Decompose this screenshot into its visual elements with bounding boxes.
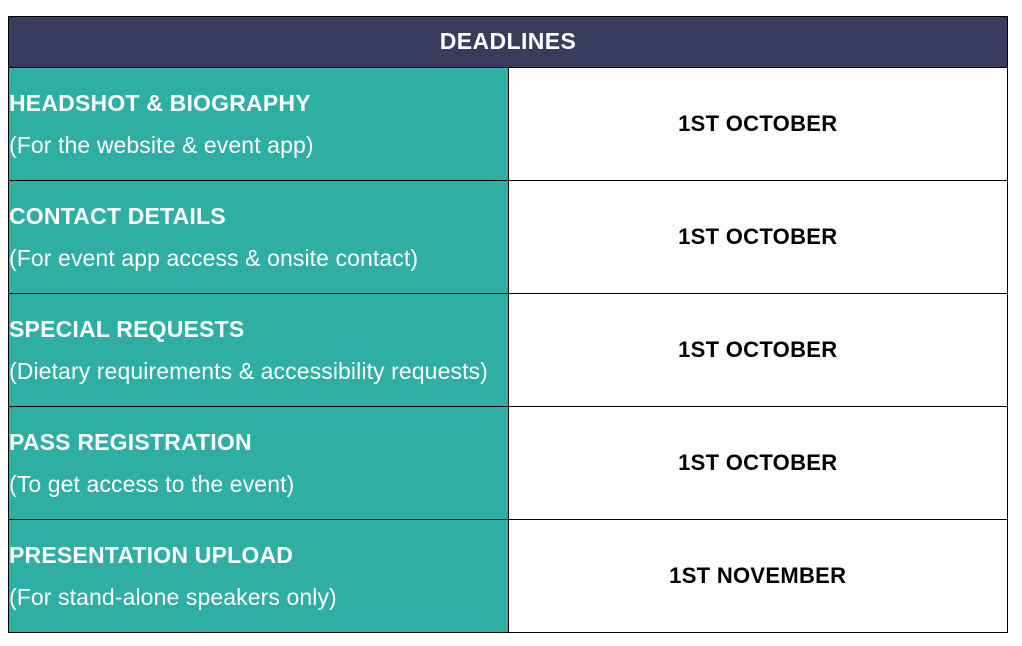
table-row: CONTACT DETAILS (For event app access & … <box>9 181 1008 294</box>
header-cell-deadlines: DEADLINES <box>9 17 1008 68</box>
deadlines-table: DEADLINES HEADSHOT & BIOGRAPHY (For the … <box>8 16 1008 633</box>
date-cell-special-requests: 1ST OCTOBER <box>508 294 1008 407</box>
table-row: HEADSHOT & BIOGRAPHY (For the website & … <box>9 68 1008 181</box>
deadline-date: 1ST OCTOBER <box>678 450 837 475</box>
deadline-date: 1ST NOVEMBER <box>669 563 846 588</box>
table-body: HEADSHOT & BIOGRAPHY (For the website & … <box>9 68 1008 633</box>
task-subtitle: (For the website & event app) <box>9 132 508 158</box>
task-subtitle: (For stand-alone speakers only) <box>9 584 508 610</box>
task-subtitle: (To get access to the event) <box>9 471 508 497</box>
table-header: DEADLINES <box>9 17 1008 68</box>
task-cell-presentation-upload: PRESENTATION UPLOAD (For stand-alone spe… <box>9 520 509 633</box>
table-row: PRESENTATION UPLOAD (For stand-alone spe… <box>9 520 1008 633</box>
task-title: SPECIAL REQUESTS <box>9 316 508 342</box>
task-title: HEADSHOT & BIOGRAPHY <box>9 90 508 116</box>
task-cell-contact-details: CONTACT DETAILS (For event app access & … <box>9 181 509 294</box>
task-cell-headshot-biography: HEADSHOT & BIOGRAPHY (For the website & … <box>9 68 509 181</box>
deadline-date: 1ST OCTOBER <box>678 337 837 362</box>
table-row: SPECIAL REQUESTS (Dietary requirements &… <box>9 294 1008 407</box>
task-title: CONTACT DETAILS <box>9 203 508 229</box>
task-title: PASS REGISTRATION <box>9 429 508 455</box>
task-subtitle: (Dietary requirements & accessibility re… <box>9 358 508 384</box>
deadline-date: 1ST OCTOBER <box>678 111 837 136</box>
date-cell-presentation-upload: 1ST NOVEMBER <box>508 520 1008 633</box>
task-subtitle: (For event app access & onsite contact) <box>9 245 508 271</box>
task-title: PRESENTATION UPLOAD <box>9 542 508 568</box>
date-cell-contact-details: 1ST OCTOBER <box>508 181 1008 294</box>
page-title: DEADLINES <box>440 28 577 54</box>
date-cell-headshot-biography: 1ST OCTOBER <box>508 68 1008 181</box>
table-header-row: DEADLINES <box>9 17 1008 68</box>
table-row: PASS REGISTRATION (To get access to the … <box>9 407 1008 520</box>
date-cell-pass-registration: 1ST OCTOBER <box>508 407 1008 520</box>
deadline-date: 1ST OCTOBER <box>678 224 837 249</box>
task-cell-pass-registration: PASS REGISTRATION (To get access to the … <box>9 407 509 520</box>
task-cell-special-requests: SPECIAL REQUESTS (Dietary requirements &… <box>9 294 509 407</box>
